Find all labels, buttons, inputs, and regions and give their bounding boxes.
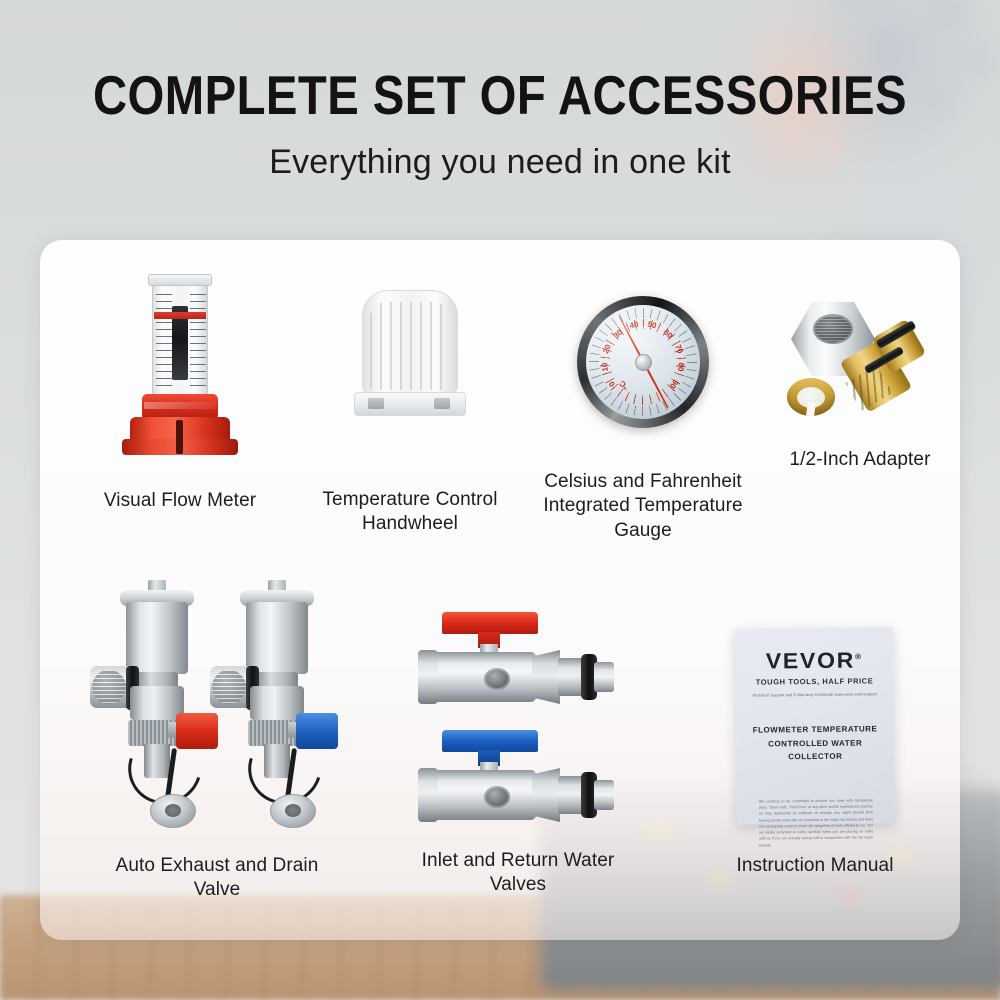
ball-valve-blue	[418, 730, 618, 822]
ball-valve-handle-blue	[442, 730, 538, 752]
flow-meter-scale-left	[156, 294, 172, 390]
page-subtitle: Everything you need in one kit	[0, 143, 1000, 182]
accessory-label-instruction-manual: Instruction Manual	[680, 854, 950, 878]
manual-tagline: TOUGH TOOLS, HALF PRICE	[745, 676, 883, 686]
manual-content: VEVOR® TOUGH TOOLS, HALF PRICE Technical…	[745, 647, 885, 848]
ball-valve-side-port	[484, 786, 510, 808]
manual-product-line-2: CONTROLLED WATER COLLECTOR	[746, 736, 884, 765]
flow-meter-scale-right	[190, 294, 206, 390]
flow-meter-tube-cap	[148, 274, 212, 286]
gauge-glass-reflection	[586, 305, 700, 419]
flow-meter-indicator-band	[154, 312, 206, 319]
exhaust-valve-body	[246, 602, 308, 674]
manual-registered-mark: ®	[855, 652, 863, 661]
accessory-temperature-gauge[interactable]: 0102030405060708090°C Celsius and Fahren…	[528, 296, 758, 543]
ball-valve-male-end	[594, 780, 614, 810]
manual-icon: VEVOR® TOUGH TOOLS, HALF PRICE Technical…	[736, 628, 894, 824]
accessory-inlet-return-water-valves[interactable]: Inlet and Return Water Valves	[408, 612, 628, 898]
accessory-label-inlet-return-water-valves: Inlet and Return Water Valves	[408, 849, 628, 898]
handwheel-icon	[350, 288, 470, 428]
flow-meter-collar-highlight	[144, 402, 216, 409]
accessory-temperature-control-handwheel[interactable]: Temperature Control Handwheel	[300, 288, 520, 537]
ball-valve-female-end	[418, 768, 438, 822]
manual-product-title: FLOWMETER TEMPERATURE CONTROLLED WATER C…	[746, 722, 884, 764]
flow-meter-icon	[120, 278, 240, 453]
adapter-nut-threads	[815, 316, 851, 342]
handwheel-ribs	[370, 302, 450, 390]
exhaust-valve-washer-hole-red	[165, 804, 181, 817]
ball-valve-icon	[418, 612, 618, 827]
exhaust-valve-body	[126, 602, 188, 674]
ball-valve-female-end	[418, 650, 438, 704]
accessory-auto-exhaust-drain-valve[interactable]: Auto Exhaust and Drain Valve	[92, 580, 342, 903]
accessory-label-auto-exhaust-drain-valve: Auto Exhaust and Drain Valve	[92, 854, 342, 903]
ball-valve-union-hex-nut	[532, 768, 560, 822]
exhaust-valve-port-threads	[212, 670, 246, 704]
handwheel-tab-right	[434, 398, 450, 409]
accessories-card: Visual Flow Meter Temperature Control Ha…	[40, 240, 960, 940]
ball-valve-body	[424, 770, 536, 820]
exhaust-valve-washer-hole-blue	[285, 804, 301, 817]
accessory-label-visual-flow-meter: Visual Flow Meter	[80, 489, 280, 513]
exhaust-valve-icon	[102, 580, 332, 830]
ball-valve-male-end	[594, 662, 614, 692]
page-title: COMPLETE SET OF ACCESSORIES	[70, 68, 930, 123]
accessory-label-half-inch-adapter: 1/2-Inch Adapter	[770, 448, 950, 472]
exhaust-valve-port-threads	[92, 670, 126, 704]
manual-brand-name: VEVOR	[766, 648, 856, 674]
header: COMPLETE SET OF ACCESSORIES Everything y…	[0, 0, 1000, 182]
flow-meter-slot	[176, 420, 183, 454]
ball-valve-handle-red	[442, 612, 538, 634]
accessory-visual-flow-meter[interactable]: Visual Flow Meter	[80, 278, 280, 513]
exhaust-valve-blue	[222, 580, 332, 830]
ball-valve-side-port	[484, 668, 510, 690]
exhaust-valve-red	[102, 580, 212, 830]
accessory-label-temperature-gauge: Celsius and Fahrenheit Integrated Temper…	[528, 470, 758, 543]
manual-brand-logo: VEVOR®	[742, 647, 887, 675]
manual-body-text: We continue to be committed to provide y…	[747, 797, 886, 849]
accessory-instruction-manual[interactable]: VEVOR® TOUGH TOOLS, HALF PRICE Technical…	[680, 628, 950, 878]
accessory-half-inch-adapter[interactable]: 1/2-Inch Adapter	[770, 290, 950, 472]
ball-valve-body	[424, 652, 536, 702]
manual-support-line: Technical Support and E-Warranty Certifi…	[748, 691, 881, 697]
ball-valve-red	[418, 612, 618, 704]
handwheel-tab-left	[368, 398, 384, 409]
ball-valve-union-hex-nut	[532, 650, 560, 704]
manual-product-line-1: FLOWMETER TEMPERATURE	[746, 722, 884, 737]
manual-page: VEVOR® TOUGH TOOLS, HALF PRICE Technical…	[735, 627, 895, 825]
accessory-label-temperature-control-handwheel: Temperature Control Handwheel	[300, 488, 520, 537]
temperature-gauge-icon: 0102030405060708090°C	[577, 296, 709, 428]
infographic-canvas: COMPLETE SET OF ACCESSORIES Everything y…	[0, 0, 1000, 1000]
adapter-icon	[775, 290, 945, 420]
